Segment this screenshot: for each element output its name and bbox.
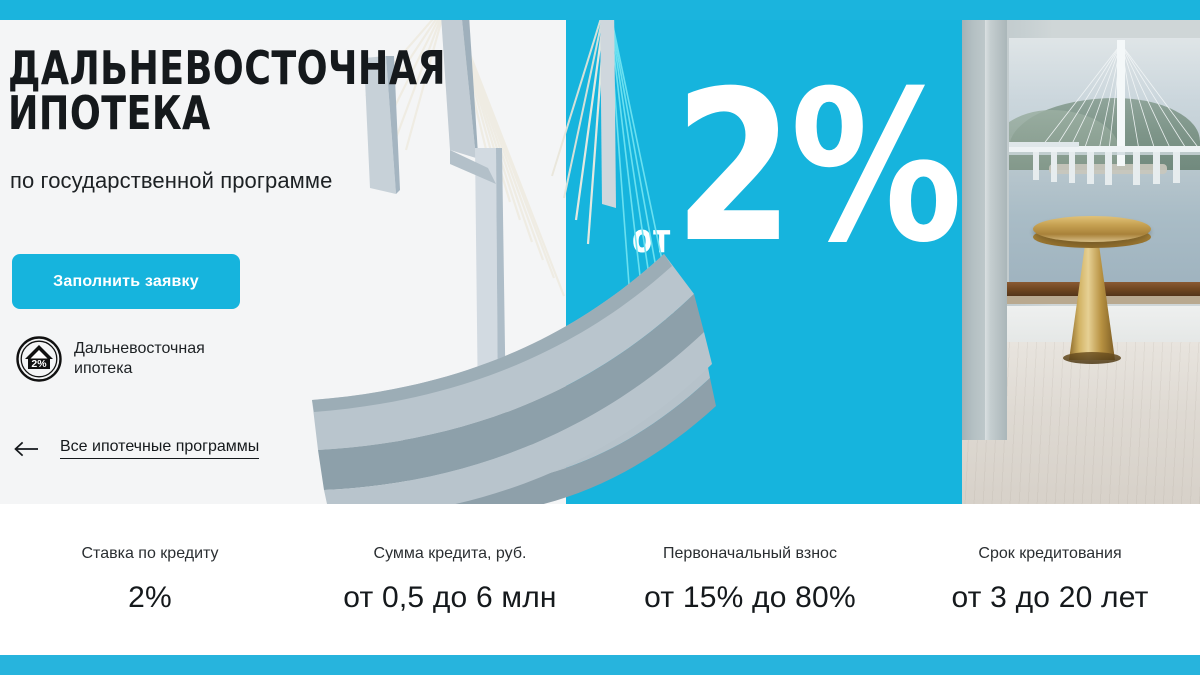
photo-table-base bbox=[1063, 352, 1121, 364]
dv-mortgage-badge-icon: 2% bbox=[16, 336, 62, 382]
stat-value: от 15% до 80% bbox=[644, 581, 856, 615]
banner-accent-panel bbox=[566, 20, 955, 504]
stat-value: 2% bbox=[128, 581, 172, 615]
stat-item-downpayment: Первоначальный взнос от 15% до 80% bbox=[600, 504, 900, 655]
hero-banner: от 2% bbox=[0, 20, 1200, 504]
stat-item-rate: Ставка по кредиту 2% bbox=[0, 504, 300, 655]
page-title: ДАЛЬНЕВОСТОЧНАЯ ИПОТЕКА bbox=[8, 46, 446, 136]
top-accent-strip bbox=[0, 0, 1200, 20]
all-programs-link-label: Все ипотечные программы bbox=[60, 438, 259, 459]
photo-left-accent-edge bbox=[955, 20, 962, 504]
bottom-accent-strip bbox=[0, 655, 1200, 675]
stat-item-amount: Сумма кредита, руб. от 0,5 до 6 млн bbox=[300, 504, 600, 655]
photo-window bbox=[1009, 38, 1200, 288]
page-subtitle: по государственной программе bbox=[10, 168, 332, 194]
photo-curtain bbox=[955, 20, 1007, 440]
photo-bridge-icon bbox=[1009, 38, 1200, 288]
program-label: Дальневосточная ипотека bbox=[74, 339, 205, 379]
banner-copy: ДАЛЬНЕВОСТОЧНАЯ ИПОТЕКА по государственн… bbox=[8, 20, 548, 504]
program-badge-row: 2% Дальневосточная ипотека bbox=[16, 336, 205, 382]
apply-button[interactable]: Заполнить заявку bbox=[12, 254, 240, 309]
key-terms-row: Ставка по кредиту 2% Сумма кредита, руб.… bbox=[0, 504, 1200, 655]
stat-label: Первоначальный взнос bbox=[663, 545, 837, 563]
stat-value: от 0,5 до 6 млн bbox=[343, 581, 556, 615]
banner-photo bbox=[955, 20, 1200, 504]
arrow-left-icon bbox=[14, 441, 40, 457]
stat-label: Сумма кредита, руб. bbox=[374, 545, 527, 563]
page-root: от 2% bbox=[0, 0, 1200, 675]
stat-label: Ставка по кредиту bbox=[81, 545, 218, 563]
photo-curtain-fold bbox=[985, 20, 991, 440]
badge-rate-text: 2% bbox=[31, 358, 47, 370]
photo-table-top bbox=[1033, 216, 1151, 242]
stat-value: от 3 до 20 лет bbox=[951, 581, 1148, 615]
all-programs-link[interactable]: Все ипотечные программы bbox=[14, 438, 259, 459]
stat-item-term: Срок кредитования от 3 до 20 лет bbox=[900, 504, 1200, 655]
stat-label: Срок кредитования bbox=[978, 545, 1121, 563]
